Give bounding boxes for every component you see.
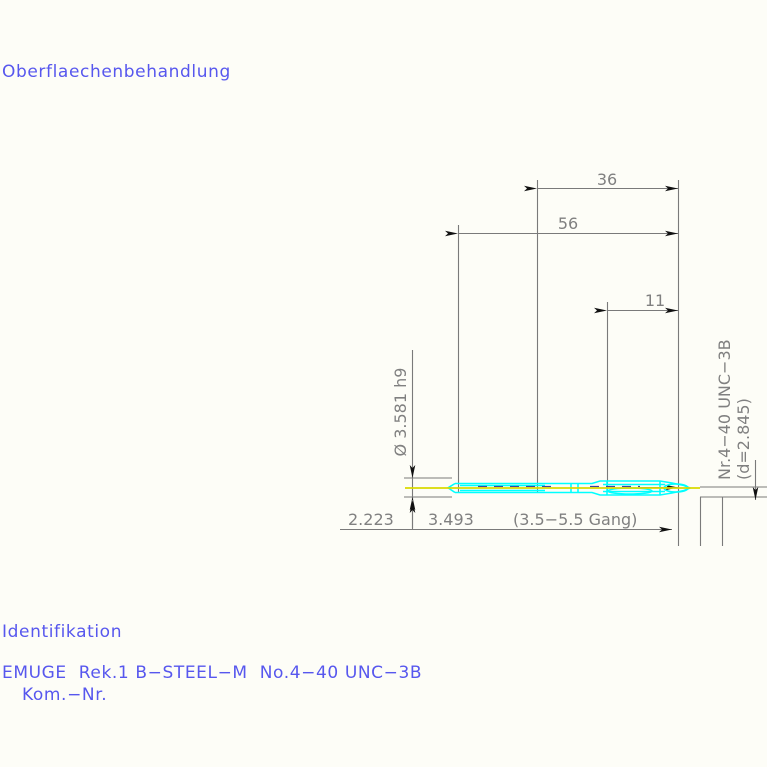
cad-drawing-canvas: 36 56 11 Ø 3.581 h9 2.223 3.493 (3.5−5.5…: [0, 0, 767, 767]
dim-text-thread-spec-2: (d=2.845): [734, 398, 753, 480]
dim-text-56: 56: [558, 214, 578, 233]
dim-text-36: 36: [597, 170, 617, 189]
dim-text-chamfer-threads: (3.5−5.5 Gang): [513, 510, 637, 529]
extension-lines: [340, 180, 767, 546]
dim-text-diameter: Ø 3.581 h9: [391, 368, 410, 457]
part-geometry: [405, 481, 700, 495]
dimension-lines: [413, 189, 756, 530]
drawing-page: Oberflaechenbehandlung Identifikation EM…: [0, 0, 767, 767]
dim-text-11: 11: [645, 291, 665, 310]
dim-text-square-size: 2.223: [348, 510, 394, 529]
dimension-texts: 36 56 11 Ø 3.581 h9 2.223 3.493 (3.5−5.5…: [348, 170, 753, 529]
dim-text-square-length: 3.493: [428, 510, 474, 529]
dim-text-thread-spec-1: Nr.4−40 UNC−3B: [715, 339, 734, 480]
